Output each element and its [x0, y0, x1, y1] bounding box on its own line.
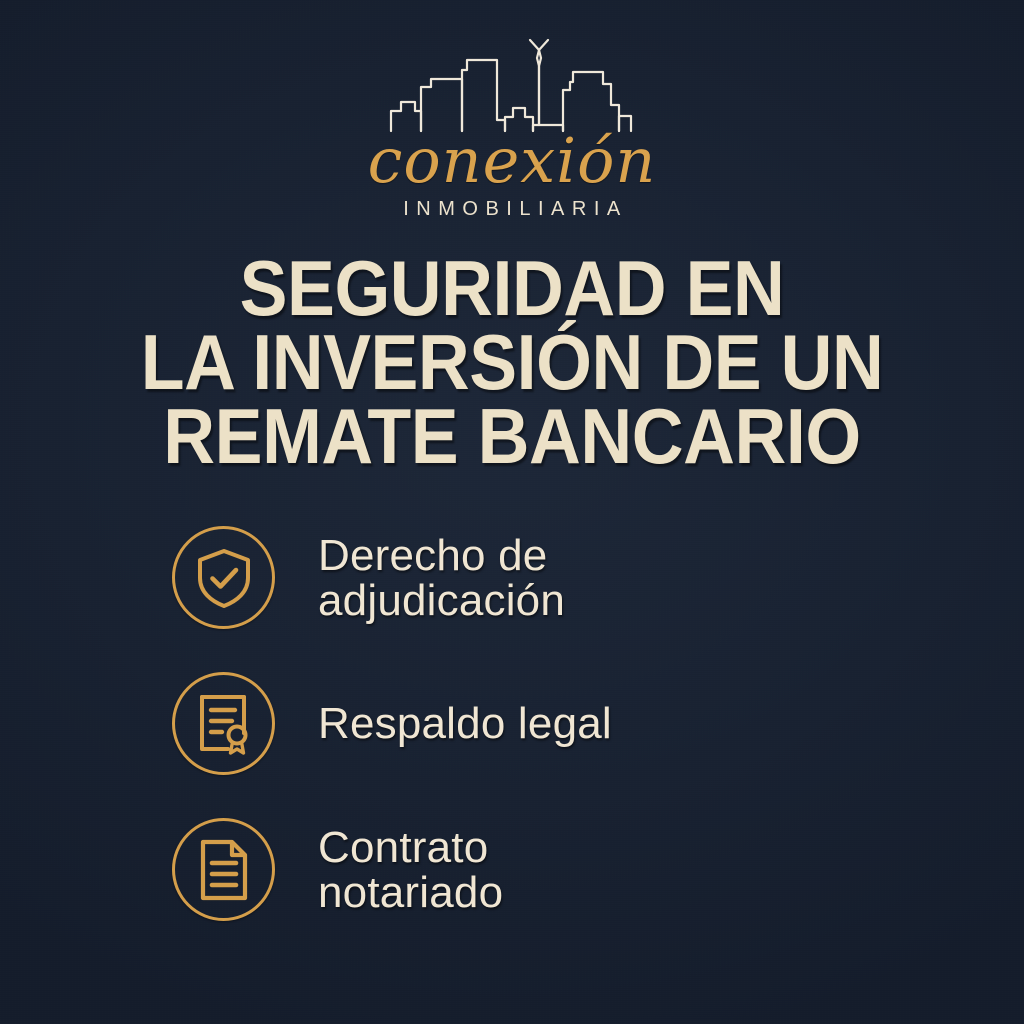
list-item-label: Respaldo legal — [318, 701, 612, 746]
list-item: Derecho de adjudicación — [172, 528, 992, 627]
document-lines-icon-circle — [172, 818, 275, 921]
document-lines-icon — [196, 839, 252, 901]
shield-check-icon-circle — [172, 526, 275, 629]
list-item: Respaldo legal — [172, 674, 992, 773]
city-skyline-icon — [387, 32, 637, 134]
headline-line-1: SEGURIDAD EN — [41, 251, 983, 325]
list-item-label: Derecho de adjudicación — [318, 533, 565, 623]
certificate-seal-icon — [194, 693, 254, 755]
list-item-label: Contrato notariado — [318, 825, 503, 915]
page-title: SEGURIDAD EN LA INVERSIÓN DE UN REMATE B… — [41, 251, 983, 473]
feature-list: Derecho de adjudicación Respaldo legal — [172, 528, 992, 919]
headline-line-3: REMATE BANCARIO — [41, 399, 983, 473]
headline-line-2: LA INVERSIÓN DE UN — [41, 325, 983, 399]
brand-name: conexión — [0, 130, 1024, 192]
certificate-seal-icon-circle — [172, 672, 275, 775]
shield-check-icon — [194, 547, 254, 609]
list-item: Contrato notariado — [172, 820, 992, 919]
brand-logo: conexión INMOBILIARIA — [0, 32, 1024, 219]
brand-tagline: INMOBILIARIA — [0, 199, 1024, 219]
promotional-poster: conexión INMOBILIARIA SEGURIDAD EN LA IN… — [0, 0, 1024, 1024]
